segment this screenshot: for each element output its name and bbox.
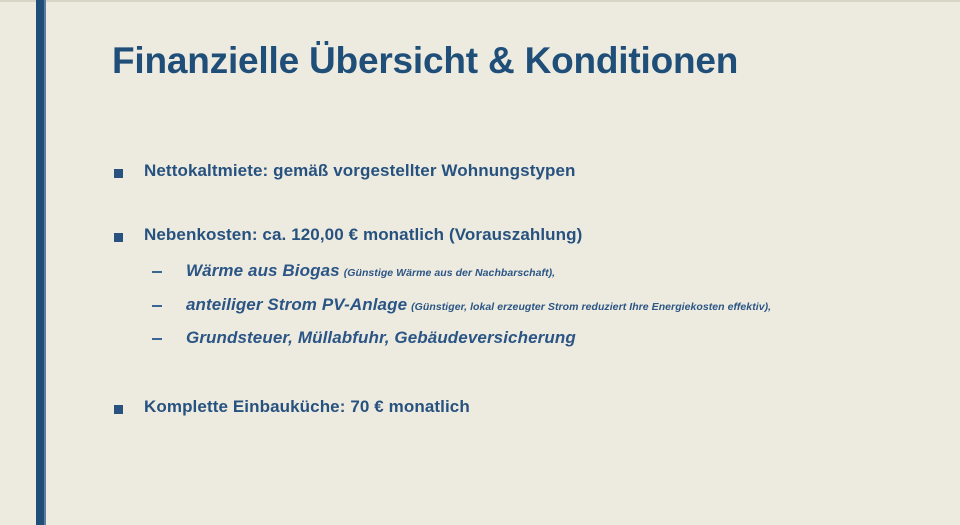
square-bullet-icon (114, 233, 123, 242)
presentation-slide: Finanzielle Übersicht & Konditionen Nett… (0, 0, 960, 525)
sub-bullet-list: Wärme aus Biogas(Günstige Wärme aus der … (144, 260, 948, 350)
dash-bullet-icon (152, 305, 162, 307)
sub-bullet-label: Wärme aus Biogas (186, 261, 340, 280)
square-bullet-icon (114, 169, 123, 178)
sub-bullet-label: anteiliger Strom PV-Anlage (186, 295, 407, 314)
list-item: Nebenkosten: ca. 120,00 € monatlich (Vor… (108, 224, 948, 350)
bullet-label: Nettokaltmiete: gemäß vorgestellter Wohn… (144, 160, 948, 182)
dash-bullet-icon (152, 338, 162, 340)
sub-bullet-note: (Günstige Wärme aus der Nachbarschaft), (344, 267, 555, 279)
bullet-label: Nebenkosten: ca. 120,00 € monatlich (Vor… (144, 224, 948, 246)
dash-bullet-icon (152, 271, 162, 273)
square-bullet-icon (114, 405, 123, 414)
slide-content: Finanzielle Übersicht & Konditionen Nett… (46, 0, 960, 525)
sub-bullet-note: (Günstiger, lokal erzeugter Strom reduzi… (411, 301, 771, 313)
sub-bullet-label: Grundsteuer, Müllabfuhr, Gebäudeversiche… (186, 328, 576, 347)
list-item: Komplette Einbauküche: 70 € monatlich (108, 396, 948, 418)
list-item: Nettokaltmiete: gemäß vorgestellter Wohn… (108, 160, 948, 182)
sub-list-item: Wärme aus Biogas(Günstige Wärme aus der … (144, 260, 948, 283)
bullet-list: Nettokaltmiete: gemäß vorgestellter Wohn… (108, 160, 948, 419)
sub-list-item: Grundsteuer, Müllabfuhr, Gebäudeversiche… (144, 327, 948, 350)
page-title: Finanzielle Übersicht & Konditionen (112, 40, 738, 81)
bullet-label: Komplette Einbauküche: 70 € monatlich (144, 396, 948, 418)
sub-list-item: anteiliger Strom PV-Anlage(Günstiger, lo… (144, 294, 948, 317)
